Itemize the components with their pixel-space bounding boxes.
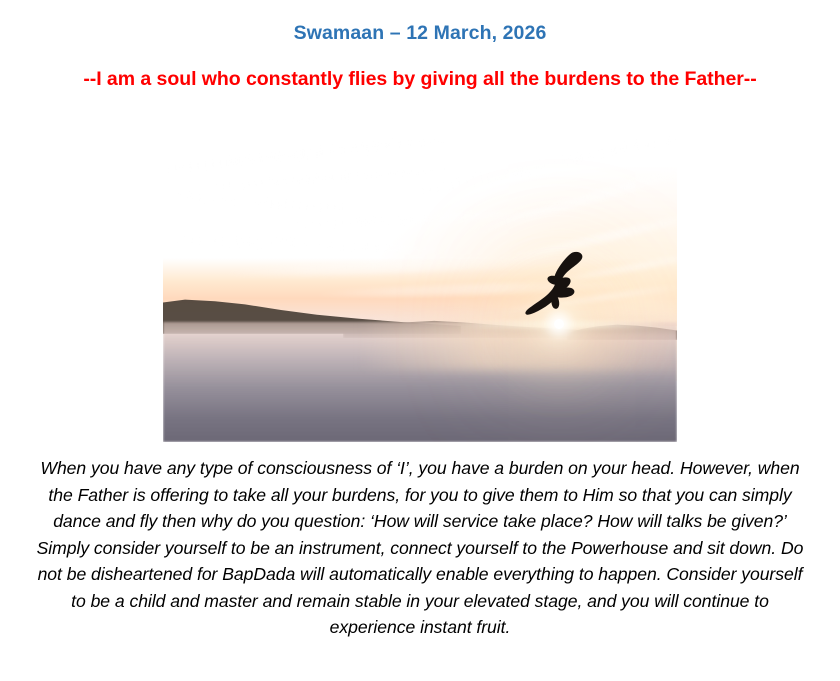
- document-page: Swamaan – 12 March, 2026 --I am a soul w…: [0, 0, 840, 681]
- cirrus-cloud-streak: [163, 190, 363, 213]
- bird-soaring-above-clouds-at-sunset-photo: [163, 136, 677, 442]
- body-paragraph: When you have any type of consciousness …: [28, 455, 812, 641]
- photo-frame: [163, 136, 677, 442]
- page-title: Swamaan – 12 March, 2026: [0, 0, 840, 45]
- soaring-bird-silhouette: [525, 248, 587, 322]
- page-subtitle: --I am a soul who constantly flies by gi…: [50, 45, 790, 94]
